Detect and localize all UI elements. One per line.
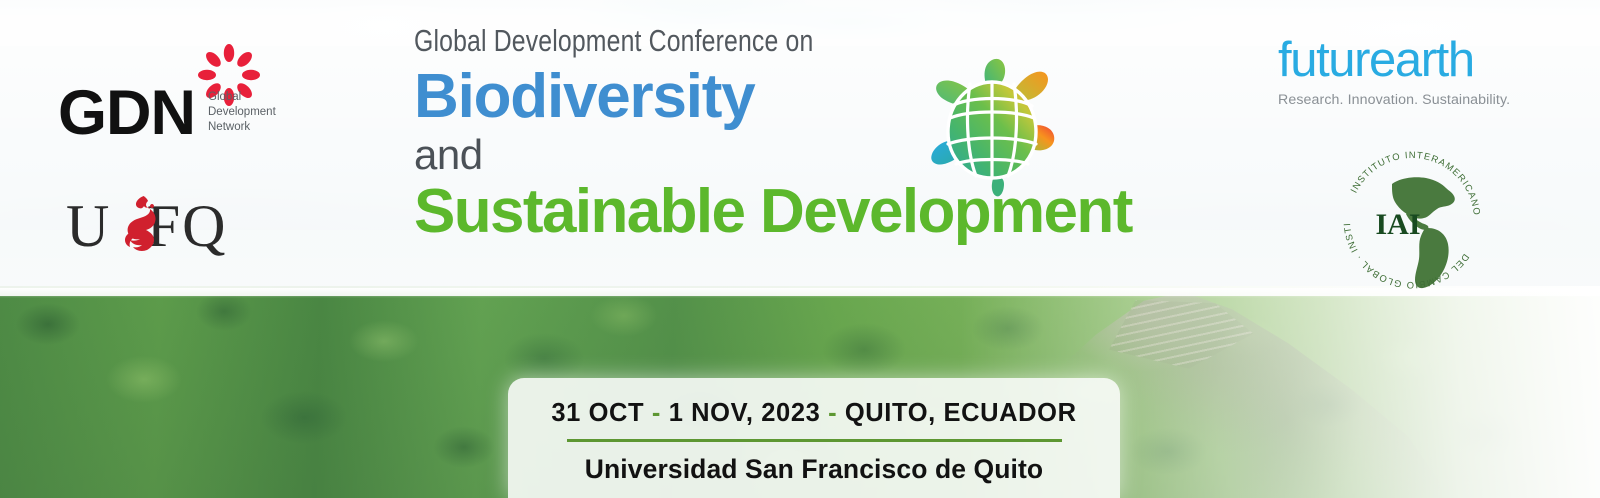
futurearth-wordmark-text: futurearth — [1278, 33, 1474, 87]
date-separator-2: - — [828, 399, 837, 427]
gdn-subtitle-line-1: Global — [208, 90, 276, 105]
event-date-start: 31 OCT — [551, 399, 644, 427]
futurearth-tagline: Research. Innovation. Sustainability. — [1278, 92, 1528, 108]
usfq-letter-u: U — [66, 193, 111, 259]
gdn-subtitle-line-2: Development — [208, 105, 276, 120]
iai-acronym: IAI — [1375, 208, 1420, 241]
event-date-end: 1 NOV, 2023 — [669, 399, 821, 427]
gdn-subtitle: Global Development Network — [208, 90, 276, 136]
futurearth-logo[interactable]: futurearth Research. Innovation. Sustain… — [1278, 36, 1528, 122]
conference-title-and: and — [414, 133, 1234, 177]
usfq-dragon-icon — [112, 192, 168, 256]
conference-title-sustainable-development: Sustainable Development — [414, 179, 1234, 245]
event-venue: Universidad San Francisco de Quito — [508, 454, 1120, 485]
event-info-card: 31 OCT - 1 NOV, 2023 - QUITO, ECUADOR Un… — [508, 378, 1120, 498]
gdn-subtitle-line-3: Network — [208, 120, 276, 135]
conference-title-block: Global Development Conference on Biodive… — [414, 24, 1234, 245]
event-location: QUITO, ECUADOR — [845, 399, 1077, 427]
event-date-location: 31 OCT - 1 NOV, 2023 - QUITO, ECUADOR — [508, 399, 1120, 428]
futurearth-wordmark: futurearth — [1278, 36, 1528, 85]
gdn-logo[interactable]: GDN Global Development Network — [58, 58, 308, 144]
sea-turtle-icon — [912, 52, 1072, 202]
usfq-logo[interactable]: USFQ — [66, 196, 266, 270]
conference-banner: GDN Global Development Network USFQ Glob… — [0, 0, 1600, 498]
info-card-divider — [567, 439, 1062, 442]
iai-logo[interactable]: IAI INSTITUTO INTERAMERICANO PARA LA INV… — [1334, 146, 1490, 294]
date-separator-1: - — [652, 399, 661, 427]
gdn-wordmark: GDN — [58, 82, 195, 145]
conference-title-biodiversity: Biodiversity — [414, 65, 1234, 129]
